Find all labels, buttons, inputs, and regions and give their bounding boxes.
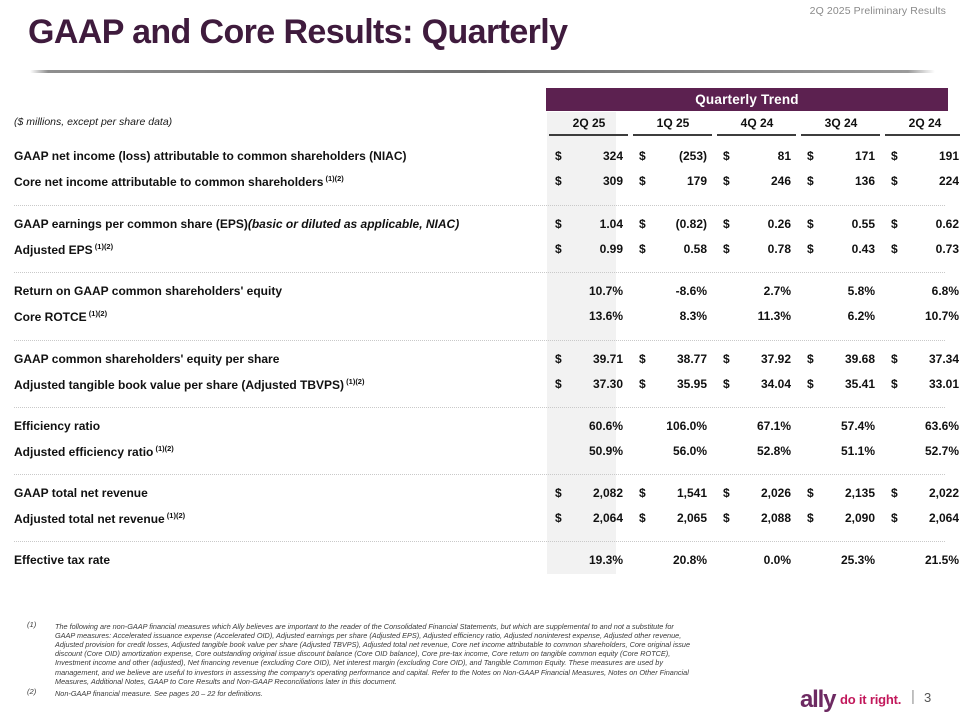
column-header-rule: [717, 134, 796, 136]
currency-symbol: $: [723, 377, 730, 391]
footer-divider: |: [911, 688, 915, 705]
currency-symbol: $: [807, 217, 814, 231]
cell-value: 0.26: [768, 217, 791, 231]
table-cell: 10.7%: [883, 309, 960, 325]
table-cell: $171: [799, 149, 883, 165]
row-label-text: Adjusted efficiency ratio: [14, 445, 153, 459]
cell-value: 191: [939, 149, 959, 163]
currency-symbol: $: [807, 149, 814, 163]
currency-symbol: $: [891, 149, 898, 163]
cell-value: 2,064: [929, 511, 959, 525]
cell-value: 136: [855, 174, 875, 188]
currency-symbol: $: [891, 217, 898, 231]
footnote-marker: (1)(2): [153, 444, 173, 453]
currency-symbol: $: [639, 377, 646, 391]
cell-value: 51.1%: [841, 444, 875, 458]
cell-value: 246: [771, 174, 791, 188]
table-cell: $309: [547, 174, 631, 190]
cell-value: 106.0%: [666, 419, 707, 433]
footnote-line: Non-GAAP financial measure. See pages 20…: [55, 689, 263, 700]
cell-value: 25.3%: [841, 553, 875, 567]
table-cell: $0.62: [883, 217, 960, 233]
table-cell: $39.71: [547, 352, 631, 368]
table-cell: 0.0%: [715, 553, 799, 569]
row-label: Core ROTCE (1)(2): [14, 309, 107, 324]
row-label-text: GAAP earnings per common share (EPS): [14, 217, 248, 231]
cell-value: 0.43: [852, 242, 875, 256]
cell-value: 2,026: [761, 486, 791, 500]
row-label: Adjusted total net revenue (1)(2): [14, 511, 185, 526]
cell-value: 56.0%: [673, 444, 707, 458]
row-label-text: Adjusted EPS: [14, 243, 93, 257]
table-cell: 57.4%: [799, 419, 883, 435]
table-cell: $0.73: [883, 242, 960, 258]
row-label-text: Return on GAAP common shareholders' equi…: [14, 284, 282, 298]
row-label-text: Efficiency ratio: [14, 419, 100, 433]
currency-symbol: $: [555, 486, 562, 500]
cell-value: 224: [939, 174, 959, 188]
cell-value: 1,541: [677, 486, 707, 500]
cell-value: 34.04: [761, 377, 791, 391]
currency-symbol: $: [639, 352, 646, 366]
table-cell: $35.41: [799, 377, 883, 393]
currency-symbol: $: [555, 174, 562, 188]
table-cell: 13.6%: [547, 309, 631, 325]
currency-symbol: $: [891, 352, 898, 366]
table-cell: $(253): [631, 149, 715, 165]
row-group-separator: [14, 474, 945, 476]
cell-value: 0.62: [936, 217, 959, 231]
cell-value: 0.78: [768, 242, 791, 256]
table-cell: 21.5%: [883, 553, 960, 569]
row-group-separator: [14, 272, 945, 274]
row-label-note: (basic or diluted as applicable, NIAC): [248, 217, 459, 231]
row-label: Adjusted EPS (1)(2): [14, 242, 113, 257]
table-cell: $136: [799, 174, 883, 190]
row-group-separator: [14, 541, 945, 543]
cell-value: 309: [603, 174, 623, 188]
table-cell: $2,082: [547, 486, 631, 502]
cell-value: 10.7%: [589, 284, 623, 298]
currency-symbol: $: [891, 511, 898, 525]
row-group-separator: [14, 205, 945, 207]
row-label: Effective tax rate: [14, 553, 110, 567]
cell-value: 0.55: [852, 217, 875, 231]
table-cell: 60.6%: [547, 419, 631, 435]
table-cell: $0.78: [715, 242, 799, 258]
table-cell: $1.04: [547, 217, 631, 233]
cell-value: 6.8%: [932, 284, 959, 298]
currency-symbol: $: [723, 217, 730, 231]
table-cell: 6.2%: [799, 309, 883, 325]
units-note: ($ millions, except per share data): [14, 116, 172, 128]
table-cell: $179: [631, 174, 715, 190]
table-cell: 106.0%: [631, 419, 715, 435]
column-header-rule: [885, 134, 960, 136]
ally-logo: ally: [800, 686, 835, 714]
cell-value: 37.34: [929, 352, 959, 366]
table-cell: 5.8%: [799, 284, 883, 300]
cell-value: 39.71: [593, 352, 623, 366]
cell-value: 5.8%: [848, 284, 875, 298]
currency-symbol: $: [807, 174, 814, 188]
currency-symbol: $: [807, 511, 814, 525]
table-cell: -8.6%: [631, 284, 715, 300]
table-cell: $0.99: [547, 242, 631, 258]
cell-value: 52.8%: [757, 444, 791, 458]
page-number: 3: [924, 690, 931, 705]
cell-value: 33.01: [929, 377, 959, 391]
table-cell: 63.6%: [883, 419, 960, 435]
cell-value: 2,064: [593, 511, 623, 525]
currency-symbol: $: [807, 377, 814, 391]
cell-value: 37.30: [593, 377, 623, 391]
ally-tagline: do it right.: [840, 692, 901, 707]
table-cell: $2,088: [715, 511, 799, 527]
footnote-marker-1: (1): [27, 620, 36, 629]
footnote-marker: (1)(2): [93, 242, 113, 251]
row-label-text: GAAP common shareholders' equity per sha…: [14, 352, 279, 366]
table-cell: $2,064: [547, 511, 631, 527]
row-label: Efficiency ratio: [14, 419, 100, 433]
cell-value: 2,088: [761, 511, 791, 525]
cell-value: 10.7%: [925, 309, 959, 323]
row-label: GAAP total net revenue: [14, 486, 148, 500]
currency-symbol: $: [723, 242, 730, 256]
column-header-2q-24: 2Q 24: [883, 114, 960, 132]
currency-symbol: $: [639, 149, 646, 163]
row-group-separator: [14, 407, 945, 409]
cell-value: 39.68: [845, 352, 875, 366]
table-cell: $0.55: [799, 217, 883, 233]
row-label: Adjusted efficiency ratio (1)(2): [14, 444, 174, 459]
cell-value: 35.41: [845, 377, 875, 391]
table-cell: 52.7%: [883, 444, 960, 460]
currency-symbol: $: [723, 149, 730, 163]
row-label-text: Core net income attributable to common s…: [14, 175, 323, 189]
table-cell: 19.3%: [547, 553, 631, 569]
cell-value: 57.4%: [841, 419, 875, 433]
table-cell: $37.34: [883, 352, 960, 368]
row-label: Return on GAAP common shareholders' equi…: [14, 284, 282, 298]
table-cell: 52.8%: [715, 444, 799, 460]
table-cell: $2,026: [715, 486, 799, 502]
table-cell: $0.26: [715, 217, 799, 233]
table-cell: $2,090: [799, 511, 883, 527]
row-label: Core net income attributable to common s…: [14, 174, 344, 189]
table-cell: 56.0%: [631, 444, 715, 460]
cell-value: 81: [778, 149, 791, 163]
row-label-text: Adjusted total net revenue: [14, 512, 165, 526]
table-cell: $39.68: [799, 352, 883, 368]
cell-value: 1.04: [600, 217, 623, 231]
cell-value: 37.92: [761, 352, 791, 366]
cell-value: 52.7%: [925, 444, 959, 458]
table-cell: $224: [883, 174, 960, 190]
table-cell: 25.3%: [799, 553, 883, 569]
cell-value: 50.9%: [589, 444, 623, 458]
cell-value: 2,090: [845, 511, 875, 525]
row-label: Adjusted tangible book value per share (…: [14, 377, 364, 392]
cell-value: 6.2%: [848, 309, 875, 323]
table-cell: 2.7%: [715, 284, 799, 300]
table-cell: $2,064: [883, 511, 960, 527]
table-cell: 10.7%: [547, 284, 631, 300]
row-label: GAAP common shareholders' equity per sha…: [14, 352, 279, 366]
currency-symbol: $: [807, 242, 814, 256]
column-header-rule: [633, 134, 712, 136]
row-label: GAAP earnings per common share (EPS)(bas…: [14, 217, 459, 231]
currency-symbol: $: [891, 377, 898, 391]
table-cell: $34.04: [715, 377, 799, 393]
currency-symbol: $: [891, 174, 898, 188]
currency-symbol: $: [639, 217, 646, 231]
table-cell: 67.1%: [715, 419, 799, 435]
table-cell: $2,022: [883, 486, 960, 502]
cell-value: 2,065: [677, 511, 707, 525]
cell-value: (253): [679, 149, 707, 163]
cell-value: 35.95: [677, 377, 707, 391]
cell-value: 2,082: [593, 486, 623, 500]
table-cell: 11.3%: [715, 309, 799, 325]
table-cell: $2,065: [631, 511, 715, 527]
currency-symbol: $: [723, 511, 730, 525]
cell-value: 13.6%: [589, 309, 623, 323]
footnote-marker: (1)(2): [165, 511, 185, 520]
table-cell: $2,135: [799, 486, 883, 502]
cell-value: 171: [855, 149, 875, 163]
cell-value: 38.77: [677, 352, 707, 366]
currency-symbol: $: [723, 174, 730, 188]
table-cell: $191: [883, 149, 960, 165]
currency-symbol: $: [891, 242, 898, 256]
cell-value: 21.5%: [925, 553, 959, 567]
currency-symbol: $: [639, 174, 646, 188]
currency-symbol: $: [555, 242, 562, 256]
column-header-rule: [801, 134, 880, 136]
table-cell: $35.95: [631, 377, 715, 393]
column-header-3q-24: 3Q 24: [799, 114, 883, 132]
table-cell: $33.01: [883, 377, 960, 393]
currency-symbol: $: [555, 511, 562, 525]
row-label: GAAP net income (loss) attributable to c…: [14, 149, 407, 163]
column-header-2q-25: 2Q 25: [547, 114, 631, 132]
cell-value: 60.6%: [589, 419, 623, 433]
table-cell: $37.30: [547, 377, 631, 393]
cell-value: (0.82): [676, 217, 707, 231]
cell-value: 2,135: [845, 486, 875, 500]
table-cell: 50.9%: [547, 444, 631, 460]
cell-value: 8.3%: [680, 309, 707, 323]
cell-value: 67.1%: [757, 419, 791, 433]
cell-value: 0.73: [936, 242, 959, 256]
cell-value: 2,022: [929, 486, 959, 500]
cell-value: 324: [603, 149, 623, 163]
row-label-text: GAAP total net revenue: [14, 486, 148, 500]
footnote-marker: (1)(2): [323, 174, 343, 183]
column-header-1q-25: 1Q 25: [631, 114, 715, 132]
footnote-line: Measures, Additional Notes, GAAP to Core…: [55, 677, 397, 688]
table-cell: $0.58: [631, 242, 715, 258]
footnote-marker-2: (2): [27, 687, 36, 696]
cell-value: 19.3%: [589, 553, 623, 567]
table-cell: 6.8%: [883, 284, 960, 300]
currency-symbol: $: [891, 486, 898, 500]
table-cell: $324: [547, 149, 631, 165]
currency-symbol: $: [723, 486, 730, 500]
table-cell: $37.92: [715, 352, 799, 368]
row-label-text: Adjusted tangible book value per share (…: [14, 378, 344, 392]
currency-symbol: $: [639, 242, 646, 256]
table-cell: $81: [715, 149, 799, 165]
table-cell: $(0.82): [631, 217, 715, 233]
cell-value: 0.0%: [764, 553, 791, 567]
table-cell: $38.77: [631, 352, 715, 368]
currency-symbol: $: [555, 352, 562, 366]
currency-symbol: $: [555, 377, 562, 391]
row-label-text: GAAP net income (loss) attributable to c…: [14, 149, 407, 163]
currency-symbol: $: [555, 217, 562, 231]
quarterly-trend-header: Quarterly Trend: [546, 88, 948, 111]
currency-symbol: $: [723, 352, 730, 366]
row-label-text: Core ROTCE: [14, 310, 87, 324]
cell-value: 11.3%: [758, 309, 791, 323]
cell-value: 20.8%: [673, 553, 707, 567]
currency-symbol: $: [807, 486, 814, 500]
column-header-rule: [549, 134, 628, 136]
table-cell: 51.1%: [799, 444, 883, 460]
table-cell: 8.3%: [631, 309, 715, 325]
cell-value: 63.6%: [925, 419, 959, 433]
table-cell: $1,541: [631, 486, 715, 502]
currency-symbol: $: [639, 511, 646, 525]
table-cell: $246: [715, 174, 799, 190]
currency-symbol: $: [639, 486, 646, 500]
cell-value: 179: [687, 174, 707, 188]
column-header-4q-24: 4Q 24: [715, 114, 799, 132]
cell-value: 0.58: [684, 242, 707, 256]
cell-value: -8.6%: [676, 284, 707, 298]
table-cell: 20.8%: [631, 553, 715, 569]
cell-value: 2.7%: [764, 284, 791, 298]
currency-symbol: $: [555, 149, 562, 163]
footnote-marker: (1)(2): [344, 377, 364, 386]
row-group-separator: [14, 340, 945, 342]
cell-value: 0.99: [600, 242, 623, 256]
quarterly-results-table: Quarterly Trend ($ millions, except per …: [0, 0, 960, 600]
currency-symbol: $: [807, 352, 814, 366]
footnote-marker: (1)(2): [87, 309, 107, 318]
table-cell: $0.43: [799, 242, 883, 258]
row-label-text: Effective tax rate: [14, 553, 110, 567]
